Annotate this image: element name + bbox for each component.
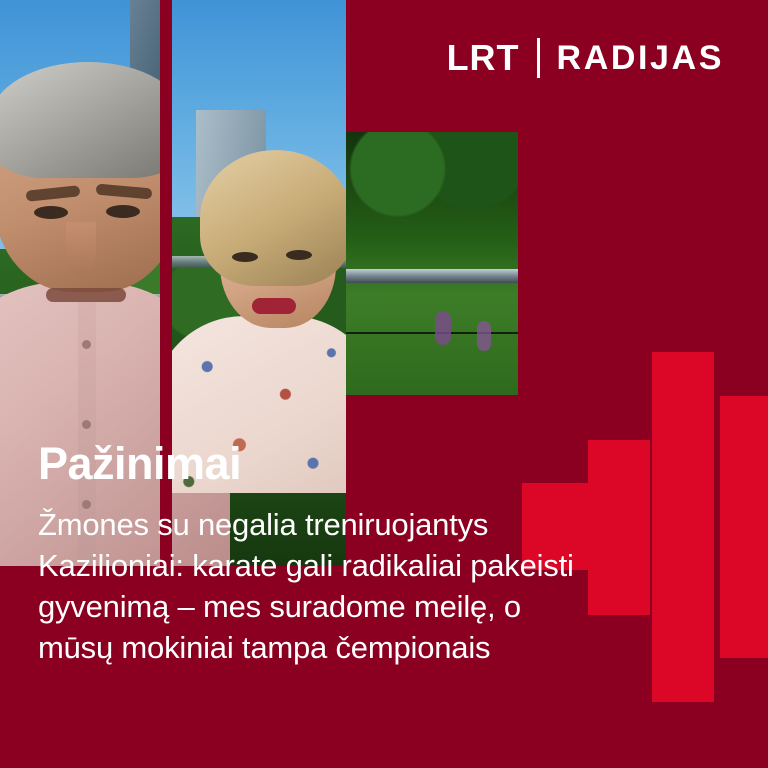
text-block: Pažinimai Žmones su negalia treniruojant… [38, 440, 698, 669]
lrt-radijas-logo: LRT RADIJAS [447, 38, 724, 78]
side-photo [346, 132, 518, 395]
purple-flower [435, 311, 451, 345]
headline-line: mūsų mokiniai tampa čempionais [38, 628, 698, 669]
man-eye-left [34, 206, 68, 219]
purple-flower [477, 321, 491, 351]
woman-lips [252, 298, 296, 314]
woman-hair [200, 150, 346, 286]
man-shirt-button [82, 340, 91, 349]
side-foliage-layer [346, 132, 518, 395]
man-mouth [46, 288, 126, 302]
headline-line: Kazilioniai: karate gali radikaliai pake… [38, 546, 698, 587]
category-label: Pažinimai [38, 440, 698, 487]
man-shirt-button [82, 420, 91, 429]
equalizer-bar [720, 396, 768, 658]
man-eye-right [106, 205, 140, 218]
woman-eye-left [232, 252, 258, 262]
logo-radijas-text: RADIJAS [557, 41, 724, 75]
side-railing [346, 269, 518, 283]
logo-lrt-text: LRT [447, 40, 520, 76]
man-hair [0, 62, 186, 178]
woman-eye-right [286, 250, 312, 260]
headline-line: Žmones su negalia treniruojantys [38, 505, 698, 546]
headline: Žmones su negalia treniruojantysKazilion… [38, 505, 698, 669]
social-media-card: LRT RADIJAS Pažinimai Žmones su negalia … [0, 0, 768, 768]
man-nose [66, 222, 96, 276]
side-wire [346, 332, 518, 334]
logo-divider [537, 38, 540, 78]
woman-photo [166, 0, 346, 493]
headline-line: gyvenimą – mes suradome meilę, o [38, 587, 698, 628]
